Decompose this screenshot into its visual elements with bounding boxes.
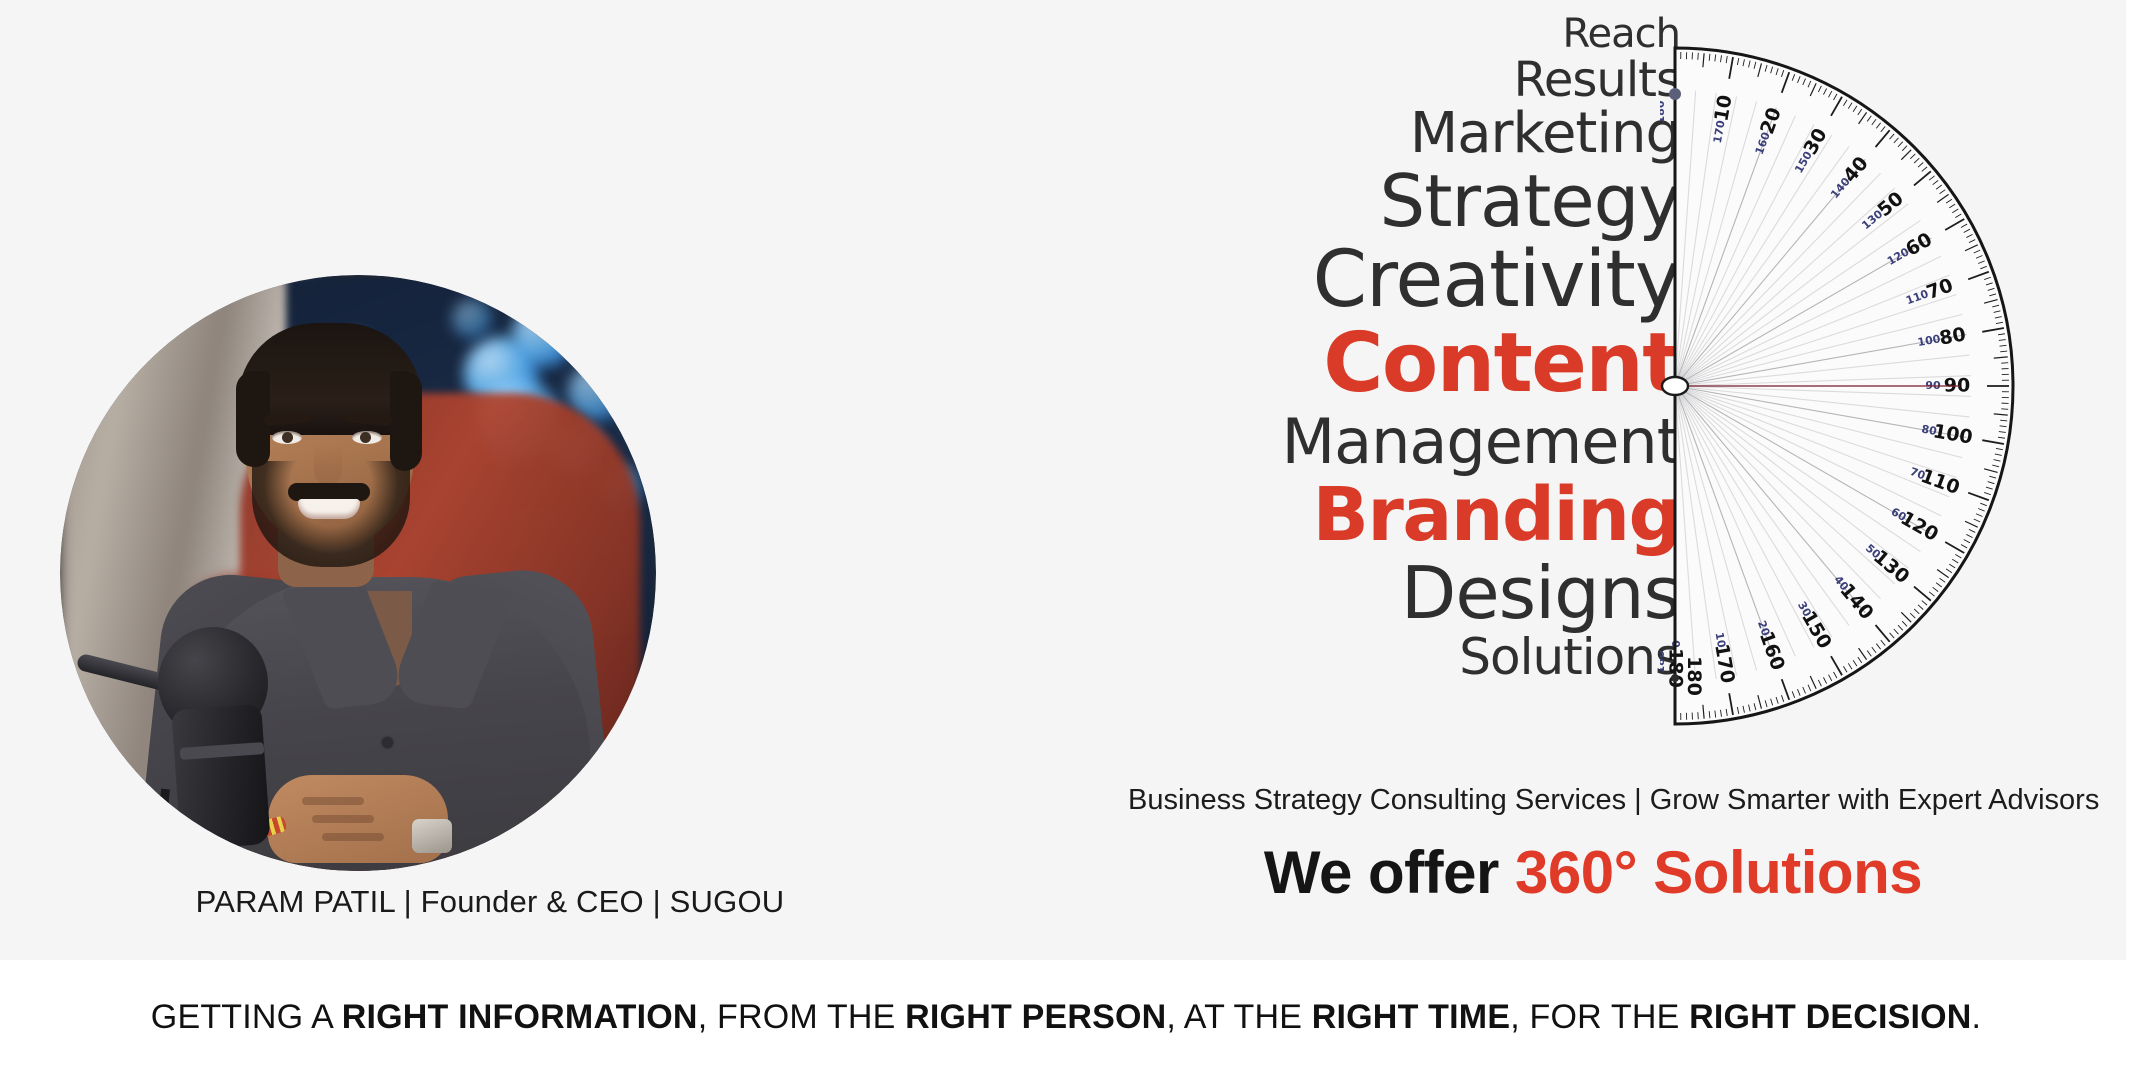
services-tagline: Business Strategy Consulting Services | … <box>1128 784 2058 817</box>
banner-plain: , AT THE <box>1166 998 1311 1036</box>
svg-text:80: 80 <box>1920 423 1938 439</box>
word-cloud-item-branding: Branding <box>1120 478 1680 552</box>
finger <box>322 833 384 841</box>
banner-plain: , FROM THE <box>698 998 905 1036</box>
bokeh-light-icon <box>452 299 492 339</box>
microphone-cable <box>152 788 291 871</box>
word-cloud-item-designs: Designs <box>1120 557 1680 629</box>
shirt-button <box>382 737 393 748</box>
word-cloud-item-creativity: Creativity <box>1120 241 1680 319</box>
hair-side-right <box>390 371 422 471</box>
finger <box>312 815 374 823</box>
banner-emphasis: RIGHT TIME <box>1312 998 1510 1036</box>
banner-plain: . <box>1972 998 1982 1036</box>
word-cloud-item-results: Results <box>1120 56 1680 104</box>
protractor-icon: 1020304050607080901001101201301401501601… <box>1660 36 2030 736</box>
nose <box>314 445 342 485</box>
protractor-end-label: 180 <box>1660 650 1667 673</box>
svg-text:10: 10 <box>1713 631 1729 649</box>
wristwatch <box>412 819 452 853</box>
bokeh-light-icon <box>512 303 576 367</box>
word-cloud-item-management: Management <box>1120 411 1680 473</box>
finger <box>302 797 364 805</box>
pupil-right <box>360 432 371 443</box>
pupil-left <box>282 432 293 443</box>
word-cloud-item-solutions: Solutions <box>1120 632 1680 682</box>
offer-prefix: We offer <box>1264 839 1515 906</box>
smile-mouth <box>298 499 360 519</box>
banner-plain: GETTING A <box>151 998 342 1036</box>
protractor-180-label: 180 <box>1683 656 1705 696</box>
svg-text:80: 80 <box>1938 323 1968 349</box>
banner-plain: , FOR THE <box>1510 998 1689 1036</box>
portrait-avatar <box>60 275 656 871</box>
portrait-caption: PARAM PATIL | Founder & CEO | SUGOU <box>60 884 920 920</box>
protractor-start-label: 180 <box>1660 100 1667 123</box>
word-cloud-item-strategy: Strategy <box>1120 165 1680 237</box>
word-cloud: Reach Results Marketing Strategy Creativ… <box>1120 14 1680 682</box>
offer-highlight: 360° Solutions <box>1515 839 1922 906</box>
svg-text:10: 10 <box>1710 93 1736 123</box>
bottom-banner-text: GETTING A RIGHT INFORMATION, FROM THE RI… <box>151 998 1981 1037</box>
offer-headline: We offer 360° Solutions <box>1128 838 2058 907</box>
slide-root: PARAM PATIL | Founder & CEO | SUGOU Reac… <box>0 0 2132 1074</box>
banner-emphasis: RIGHT PERSON <box>905 998 1166 1036</box>
banner-emphasis: RIGHT DECISION <box>1689 998 1971 1036</box>
word-cloud-item-marketing: Marketing <box>1120 106 1680 162</box>
portrait-image <box>60 275 656 871</box>
banner-emphasis: RIGHT INFORMATION <box>342 998 698 1036</box>
word-cloud-item-content: Content <box>1120 323 1680 405</box>
bottom-banner: GETTING A RIGHT INFORMATION, FROM THE RI… <box>0 960 2132 1074</box>
word-cloud-item-reach: Reach <box>1120 14 1680 54</box>
